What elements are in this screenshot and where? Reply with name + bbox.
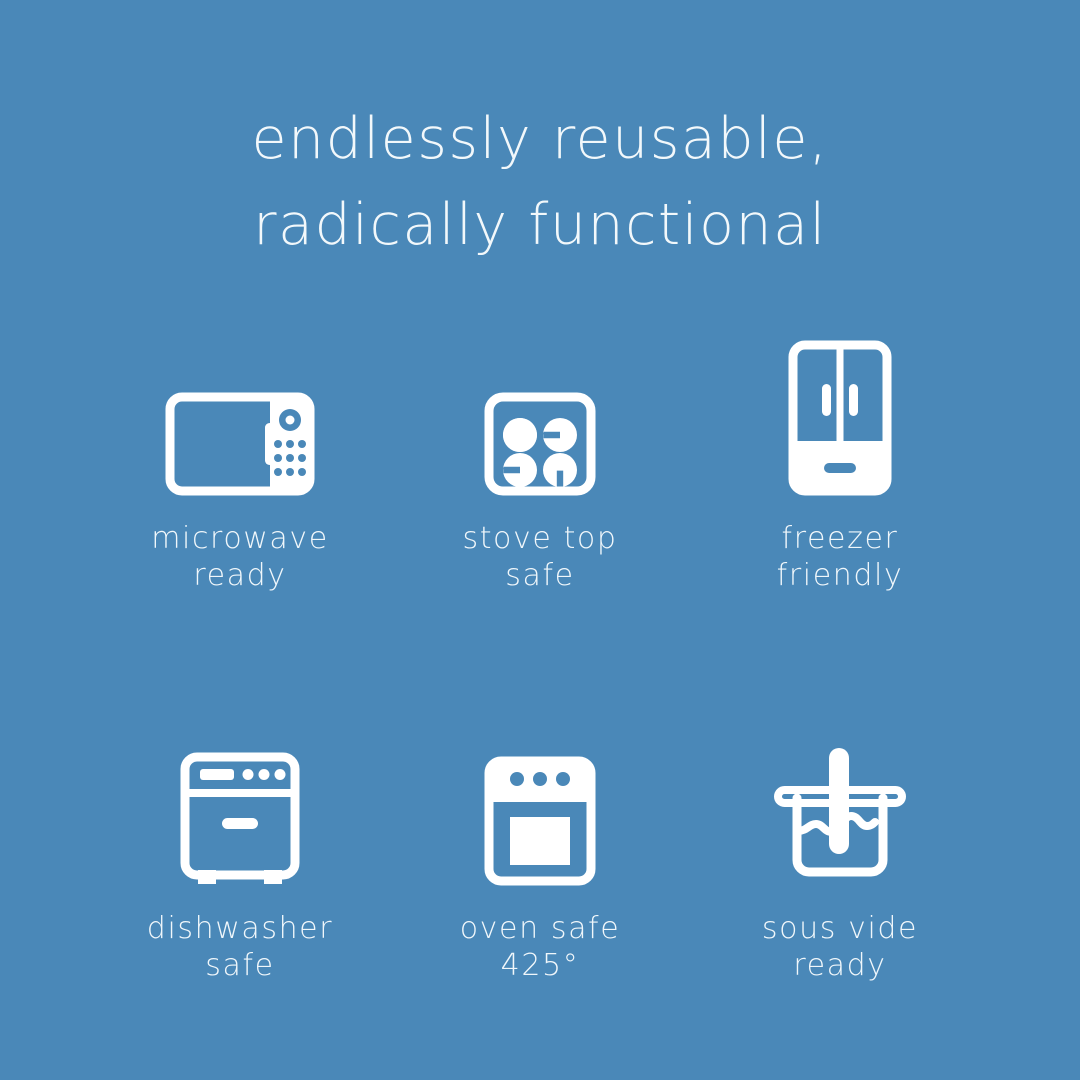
microwave-icon xyxy=(155,326,325,496)
feature-caption: oven safe 425° xyxy=(460,910,621,984)
caption-line-1: sous vide xyxy=(762,910,918,947)
feature-grid: microwave ready xyxy=(0,326,1080,984)
caption-line-1: dishwasher xyxy=(147,910,333,947)
feature-row-bottom: dishwasher safe xyxy=(0,716,1080,984)
feature-caption: sous vide ready xyxy=(762,910,918,984)
caption-line-2: ready xyxy=(151,557,329,594)
feature-freezer: freezer friendly xyxy=(690,326,990,594)
caption-line-2: safe xyxy=(147,947,333,984)
feature-oven: oven safe 425° xyxy=(390,716,690,984)
dishwasher-icon xyxy=(155,716,325,886)
feature-row-top: microwave ready xyxy=(0,326,1080,594)
feature-caption: freezer friendly xyxy=(777,520,904,594)
feature-caption: stove top safe xyxy=(462,520,617,594)
page-title: endlessly reusable, radically functional xyxy=(251,96,828,268)
feature-microwave: microwave ready xyxy=(90,326,390,594)
feature-graphic: endlessly reusable, radically functional xyxy=(0,0,1080,1080)
caption-line-1: microwave xyxy=(151,520,329,557)
caption-line-1: oven safe xyxy=(460,910,621,947)
feature-stove-top: stove top safe xyxy=(390,326,690,594)
caption-line-2: friendly xyxy=(777,557,904,594)
caption-line-2: safe xyxy=(462,557,617,594)
stove-top-icon xyxy=(455,326,625,496)
page-title-line-1: endlessly reusable, xyxy=(251,96,828,182)
oven-icon xyxy=(455,716,625,886)
sous-vide-icon xyxy=(755,716,925,886)
feature-caption: dishwasher safe xyxy=(147,910,333,984)
feature-dishwasher: dishwasher safe xyxy=(90,716,390,984)
caption-line-2: ready xyxy=(762,947,918,984)
page-title-line-2: radically functional xyxy=(251,182,828,268)
caption-line-2: 425° xyxy=(460,947,621,984)
caption-line-1: stove top xyxy=(462,520,617,557)
freezer-icon xyxy=(755,326,925,496)
caption-line-1: freezer xyxy=(777,520,904,557)
feature-caption: microwave ready xyxy=(151,520,329,594)
feature-sous-vide: sous vide ready xyxy=(690,716,990,984)
